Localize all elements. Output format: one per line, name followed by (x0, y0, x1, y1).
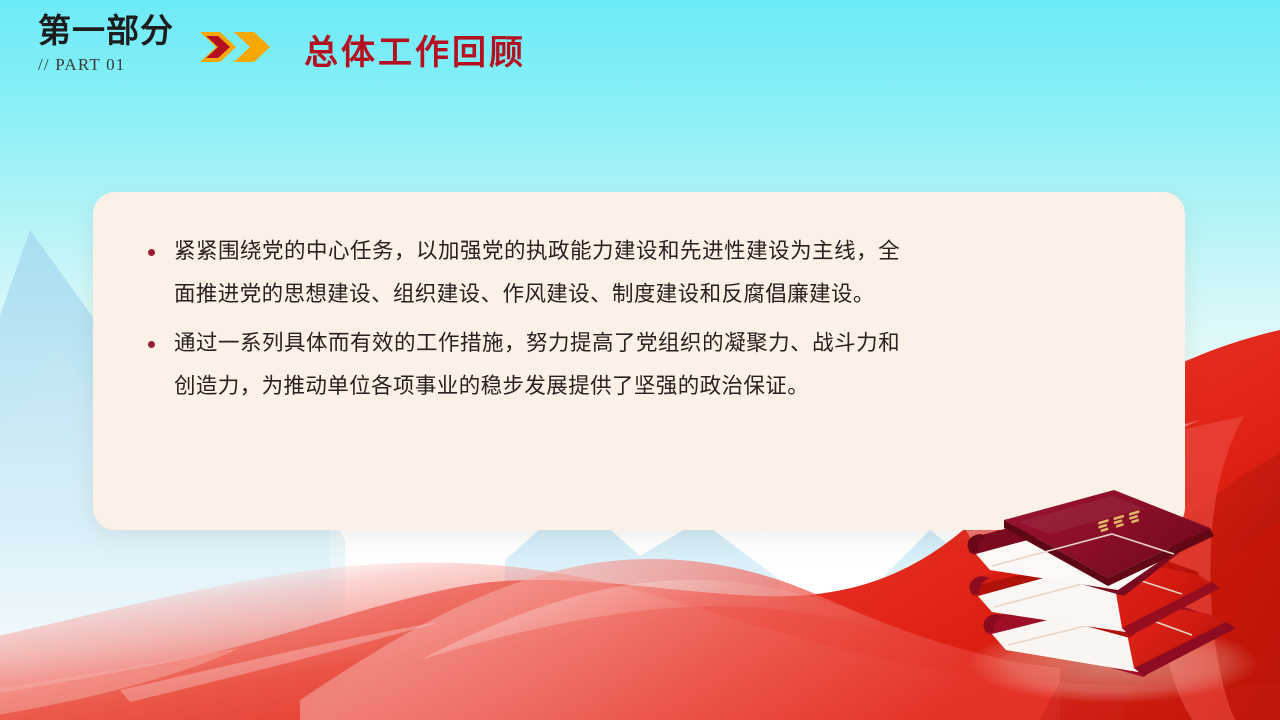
list-item-text: 通过一系列具体而有效的工作措施，努力提高了党组织的凝聚力、战斗力和创造力，为推动… (174, 331, 900, 398)
part-label-en: // PART 01 (38, 56, 174, 73)
double-chevron-right-icon (198, 30, 274, 64)
list-item: 通过一系列具体而有效的工作措施，努力提高了党组织的凝聚力、战斗力和创造力，为推动… (140, 322, 900, 408)
list-item-text: 紧紧围绕党的中心任务，以加强党的执政能力建设和先进性建设为主线，全面推进党的思想… (174, 239, 900, 306)
bullet-list: 紧紧围绕党的中心任务，以加强党的执政能力建设和先进性建设为主线，全面推进党的思想… (140, 230, 900, 414)
slide-canvas: 第一部分 // PART 01 总体工作回顾 紧紧围绕党的中心任务，以加强党的执… (0, 0, 1280, 720)
slide-header: 第一部分 // PART 01 总体工作回顾 (38, 16, 526, 88)
part-label-cn: 第一部分 (38, 16, 174, 49)
bullet-dot-icon (148, 249, 155, 256)
stacked-books-illustration (948, 480, 1278, 710)
list-item: 紧紧围绕党的中心任务，以加强党的执政能力建设和先进性建设为主线，全面推进党的思想… (140, 230, 900, 316)
part-label-group: 第一部分 // PART 01 (38, 16, 174, 73)
page-title: 总体工作回顾 (304, 25, 526, 74)
bullet-dot-icon (148, 341, 155, 348)
content-card: 紧紧围绕党的中心任务，以加强党的执政能力建设和先进性建设为主线，全面推进党的思想… (93, 192, 1185, 530)
